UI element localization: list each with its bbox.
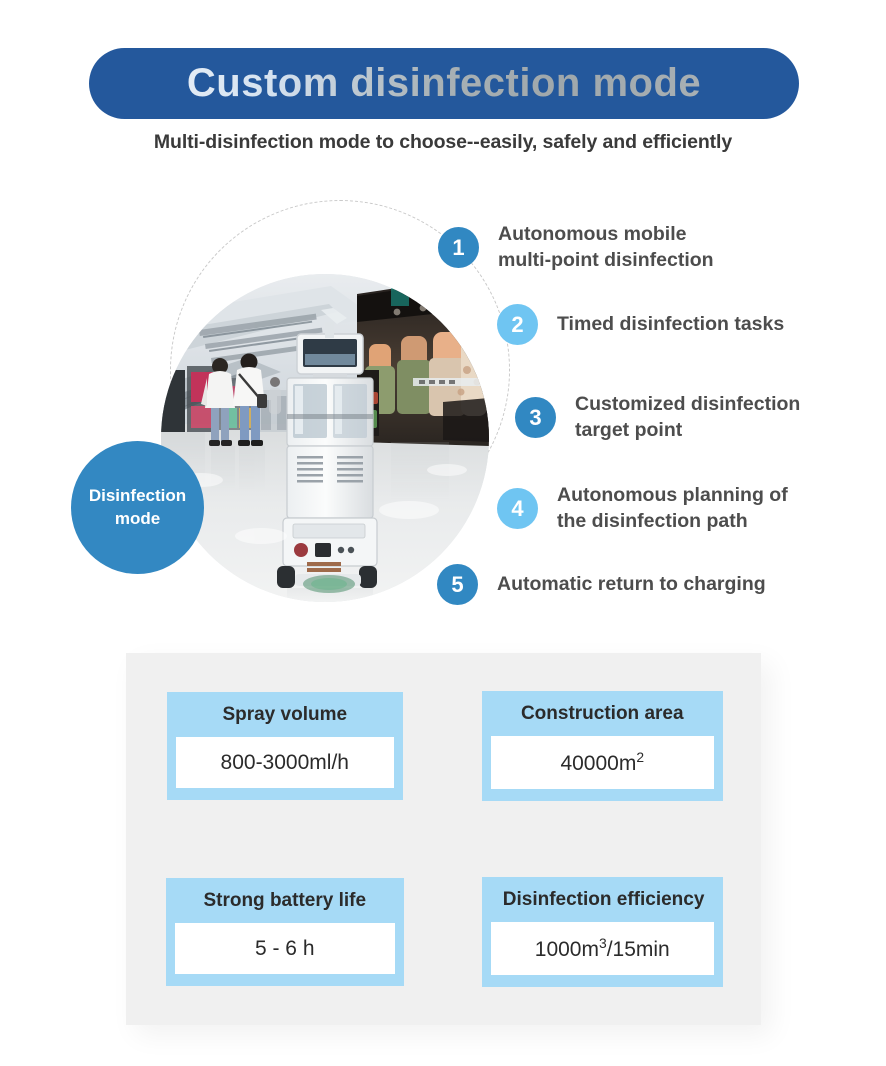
header-banner: Custom disinfection mode <box>89 48 799 119</box>
spec-title-battery-life: Strong battery life <box>175 887 395 923</box>
hub-badge-line1: Disinfection <box>89 485 186 507</box>
step-number-badge-5: 5 <box>437 564 478 605</box>
step-label-2: Timed disinfection tasks <box>557 312 784 338</box>
step-number-badge-1: 1 <box>438 227 479 268</box>
spec-cell-spray-volume: Spray volume 800-3000ml/h <box>126 653 444 839</box>
spec-value-construction-area: 40000m2 <box>491 736 714 789</box>
spec-value-spray-volume: 800-3000ml/h <box>176 737 394 788</box>
page-title: Custom disinfection mode <box>187 61 701 106</box>
step-label-3: Customized disinfection target point <box>575 392 800 443</box>
diagram-step-2[interactable]: 2 Timed disinfection tasks <box>497 304 784 345</box>
robot-photo <box>161 274 489 602</box>
specifications-panel: Spray volume 800-3000ml/h Construction a… <box>126 653 761 1025</box>
step-label-5: Automatic return to charging <box>497 572 766 598</box>
spec-title-construction-area: Construction area <box>491 700 714 736</box>
step-number-badge-3: 3 <box>515 397 556 438</box>
page-subtitle: Multi-disinfection mode to choose--easil… <box>0 131 886 154</box>
spec-title-disinfection-efficiency: Disinfection efficiency <box>491 886 714 922</box>
diagram-step-3[interactable]: 3 Customized disinfection target point <box>515 392 800 443</box>
hub-badge-disinfection-mode: Disinfection mode <box>71 441 204 574</box>
spec-card-spray-volume: Spray volume 800-3000ml/h <box>167 692 403 800</box>
step-label-1: Autonomous mobile multi-point disinfecti… <box>498 222 714 273</box>
spec-card-disinfection-efficiency: Disinfection efficiency 1000m3/15min <box>482 877 723 987</box>
robot-photo-illustration <box>161 274 489 602</box>
spec-cell-battery-life: Strong battery life 5 - 6 h <box>126 839 444 1025</box>
specifications-grid: Spray volume 800-3000ml/h Construction a… <box>126 653 761 1025</box>
spec-cell-disinfection-efficiency: Disinfection efficiency 1000m3/15min <box>444 839 762 1025</box>
step-number-badge-2: 2 <box>497 304 538 345</box>
step-number-badge-4: 4 <box>497 488 538 529</box>
spec-value-battery-life: 5 - 6 h <box>175 923 395 974</box>
diagram-step-4[interactable]: 4 Autonomous planning of the disinfectio… <box>497 483 788 534</box>
step-label-4: Autonomous planning of the disinfection … <box>557 483 788 534</box>
hub-badge-line2: mode <box>115 508 160 530</box>
diagram-step-1[interactable]: 1 Autonomous mobile multi-point disinfec… <box>438 222 714 273</box>
spec-cell-construction-area: Construction area 40000m2 <box>444 653 762 839</box>
spec-value-disinfection-efficiency: 1000m3/15min <box>491 922 714 975</box>
spec-card-battery-life: Strong battery life 5 - 6 h <box>166 878 404 986</box>
spec-title-spray-volume: Spray volume <box>176 701 394 737</box>
diagram-step-5[interactable]: 5 Automatic return to charging <box>437 564 766 605</box>
spec-card-construction-area: Construction area 40000m2 <box>482 691 723 801</box>
